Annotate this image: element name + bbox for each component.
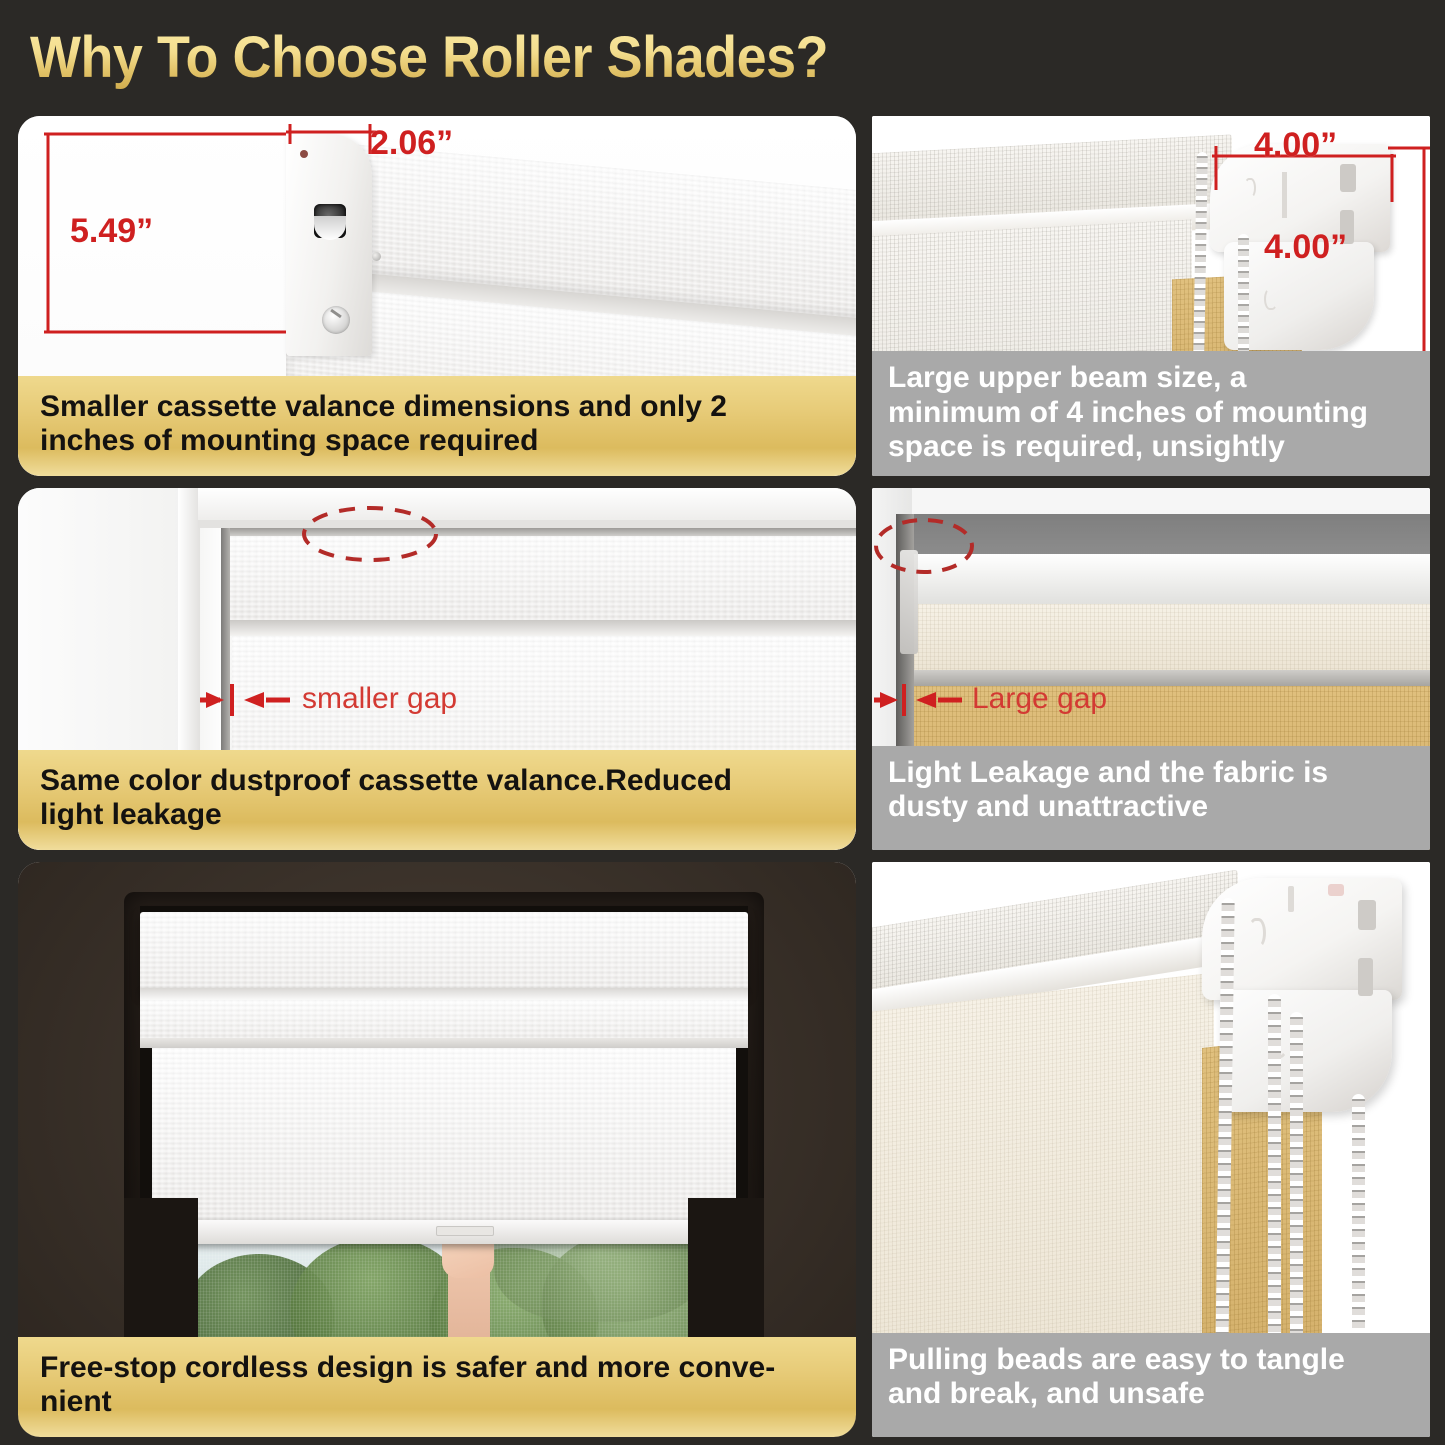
caption-line-1: Same color dustproof cassette valance.Re… [40, 764, 834, 798]
caption-line-2: minimum of 4 inches of mounting [888, 396, 1414, 430]
caption-line-1: Free-stop cordless design is safer and m… [40, 1351, 834, 1385]
panel-cordless-design: Free-stop cordless design is safer and m… [18, 862, 856, 1437]
caption-line-2: nient [40, 1385, 834, 1419]
caption-line-1: Large upper beam size, a [888, 361, 1414, 395]
caption-line-1: Pulling beads are easy to tangle [888, 1343, 1414, 1377]
caption-cordless-design: Free-stop cordless design is safer and m… [18, 1337, 856, 1437]
caption-line-2: inches of mounting space required [40, 424, 834, 458]
panel-dustproof-valance: smaller gap Same color dustproof cassett… [18, 488, 856, 850]
panel-light-leakage: Large gap Light Leakage and the fabric i… [872, 488, 1430, 850]
width-measurement-label: 4.00” [1254, 126, 1337, 165]
page-title: Why To Choose Roller Shades? [30, 24, 828, 91]
caption-dustproof-valance: Same color dustproof cassette valance.Re… [18, 750, 856, 850]
gap-label: Large gap [972, 682, 1107, 716]
caption-line-3: space is required, unsightly [888, 430, 1414, 464]
comparison-grid: 2.06” 5.49” Smaller cassette valance dim… [0, 108, 1445, 1445]
panel-large-upper-beam: 4.00” 4.00” Large upper beam size, a min… [872, 116, 1430, 476]
caption-line-2: light leakage [40, 798, 834, 832]
page-header: Why To Choose Roller Shades? [0, 0, 1445, 108]
caption-line-1: Light Leakage and the fabric is [888, 756, 1414, 790]
caption-line-1: Smaller cassette valance dimensions and … [40, 390, 834, 424]
caption-large-upper-beam: Large upper beam size, a minimum of 4 in… [872, 351, 1430, 476]
caption-pulling-beads: Pulling beads are easy to tangle and bre… [872, 1333, 1430, 1437]
caption-light-leakage: Light Leakage and the fabric is dusty an… [872, 746, 1430, 850]
caption-line-2: dusty and unattractive [888, 790, 1414, 824]
height-measurement-label: 4.00” [1264, 228, 1347, 267]
panel-cassette-dimensions: 2.06” 5.49” Smaller cassette valance dim… [18, 116, 856, 476]
gap-label: smaller gap [302, 682, 457, 716]
caption-cassette-dimensions: Smaller cassette valance dimensions and … [18, 376, 856, 476]
caption-line-2: and break, and unsafe [888, 1377, 1414, 1411]
height-measurement-label: 5.49” [70, 212, 153, 251]
panel-pulling-beads: Pulling beads are easy to tangle and bre… [872, 862, 1430, 1437]
width-measurement-label: 2.06” [370, 124, 453, 163]
